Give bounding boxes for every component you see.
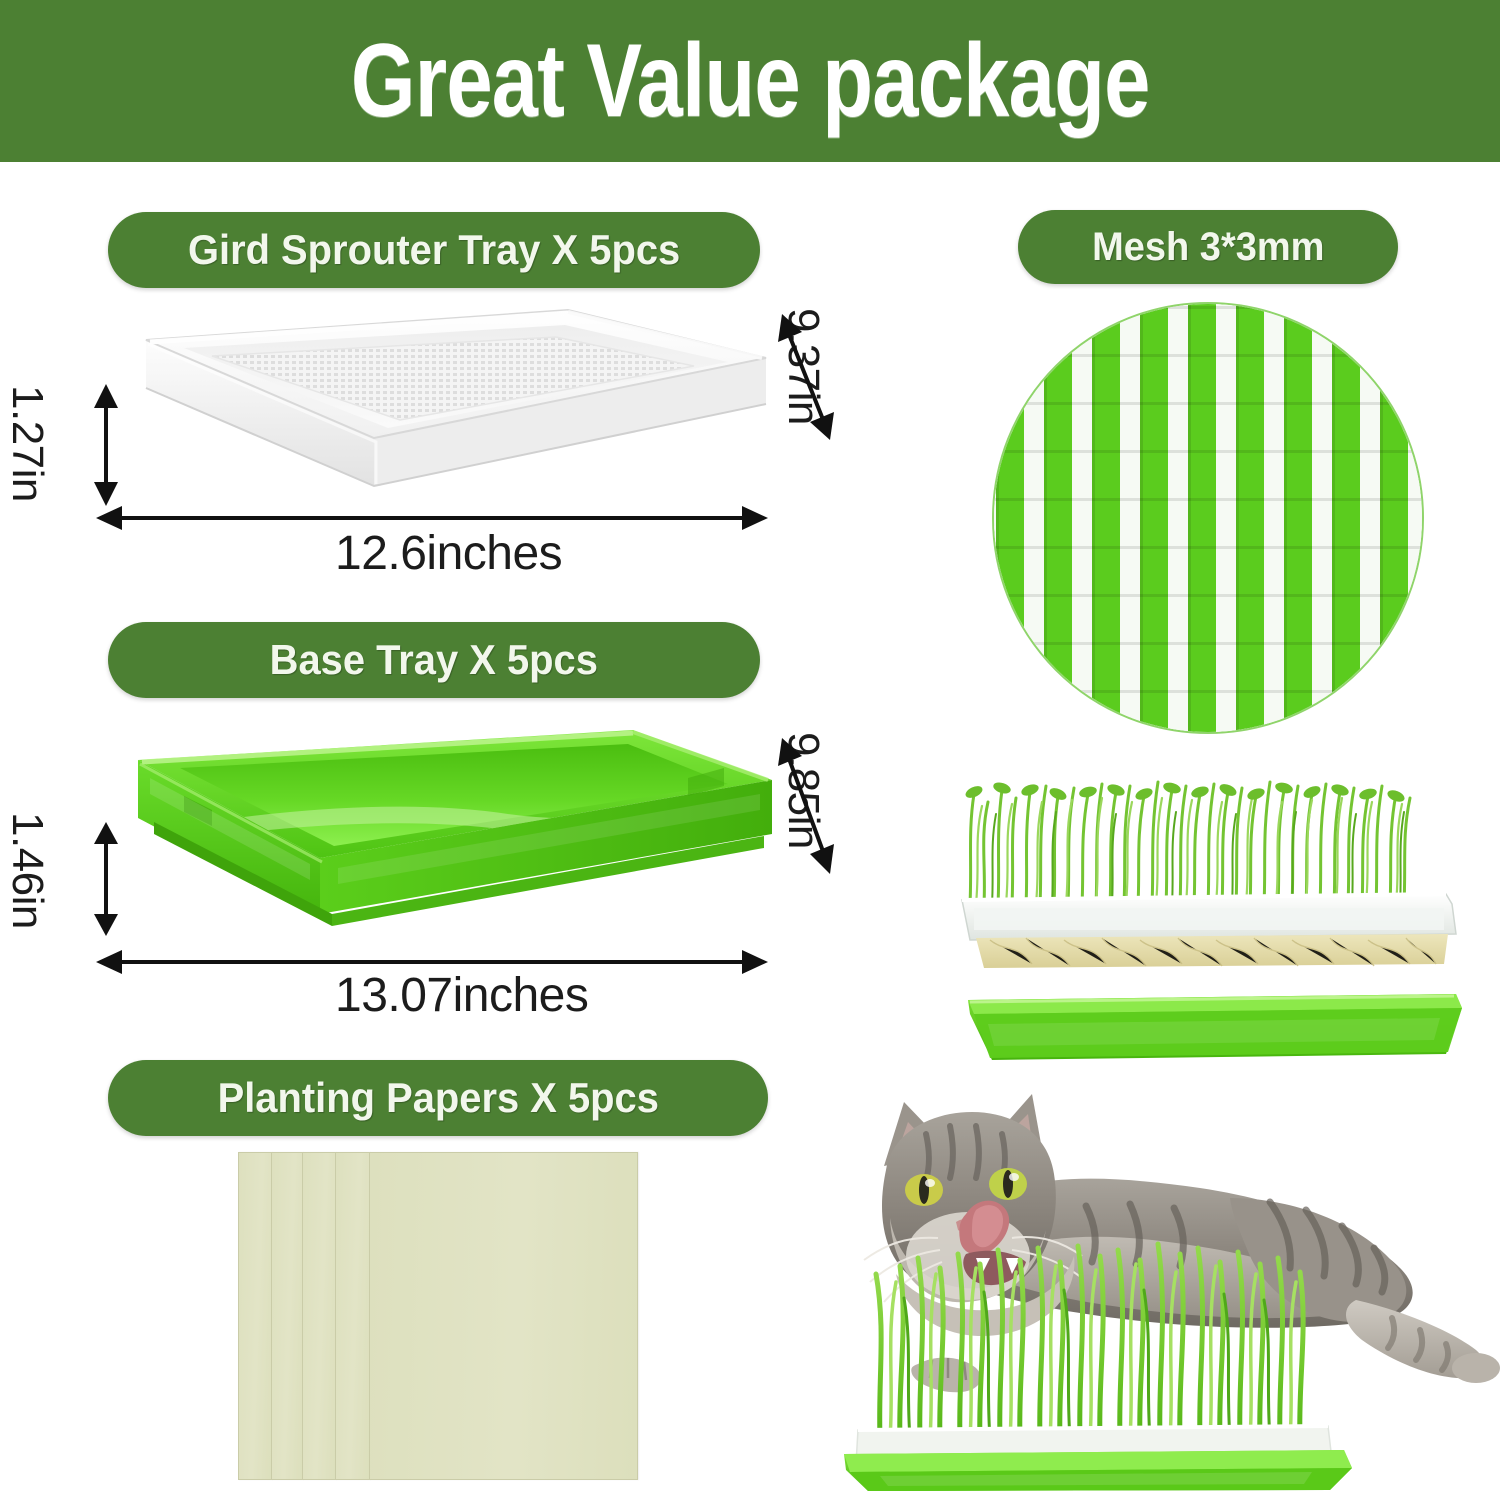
pea-shoots xyxy=(958,780,1428,904)
white-sprouter-tray-image xyxy=(88,300,788,505)
label-pill-base-tray: Base Tray X 5pcs xyxy=(108,622,760,698)
sprouter-height-arrow xyxy=(88,380,148,520)
cat-grass-tray xyxy=(844,1426,1352,1491)
header-banner: Great Value package xyxy=(0,0,1500,162)
base-tray-depth-arrow xyxy=(770,734,840,884)
microgreens-tray-photo xyxy=(900,752,1500,1064)
sprouter-depth-arrow xyxy=(770,310,840,450)
paper-sheet xyxy=(271,1152,303,1480)
label-pill-planting-papers: Planting Papers X 5pcs xyxy=(108,1060,768,1136)
green-base-tray-side xyxy=(968,994,1462,1060)
paper-sheet xyxy=(302,1152,336,1480)
label-pill-sprouter-tray: Gird Sprouter Tray X 5pcs xyxy=(108,212,760,288)
sprouter-width-arrow xyxy=(92,500,772,536)
cat-with-grass-photo xyxy=(800,1078,1500,1491)
root-mat xyxy=(976,934,1448,968)
sprouter-pill-text: Gird Sprouter Tray X 5pcs xyxy=(188,226,680,274)
base-tray-height-arrow xyxy=(88,818,148,948)
mesh-cell-shading xyxy=(992,302,1424,734)
base-tray-pill-text: Base Tray X 5pcs xyxy=(270,636,598,684)
label-pill-mesh: Mesh 3*3mm xyxy=(1018,210,1398,284)
sprouter-height-label: 1.27in xyxy=(2,385,52,502)
white-sprouter-tray-side xyxy=(962,894,1456,940)
product-infographic: Great Value package Gird Sprouter Tray X… xyxy=(0,0,1500,1491)
planting-papers-stack-image xyxy=(238,1152,638,1480)
base-tray-height-label: 1.46in xyxy=(2,812,52,929)
mesh-closeup-image xyxy=(992,302,1424,734)
paper-sheet xyxy=(335,1152,370,1480)
page-title: Great Value package xyxy=(351,29,1150,133)
papers-pill-text: Planting Papers X 5pcs xyxy=(217,1074,658,1122)
paper-sheet xyxy=(238,1152,272,1480)
green-base-tray-image xyxy=(88,718,788,933)
mesh-grid-pattern xyxy=(992,302,1424,734)
paper-sheet xyxy=(369,1152,638,1480)
base-tray-width-arrow xyxy=(92,944,772,980)
mesh-pill-text: Mesh 3*3mm xyxy=(1092,225,1324,270)
